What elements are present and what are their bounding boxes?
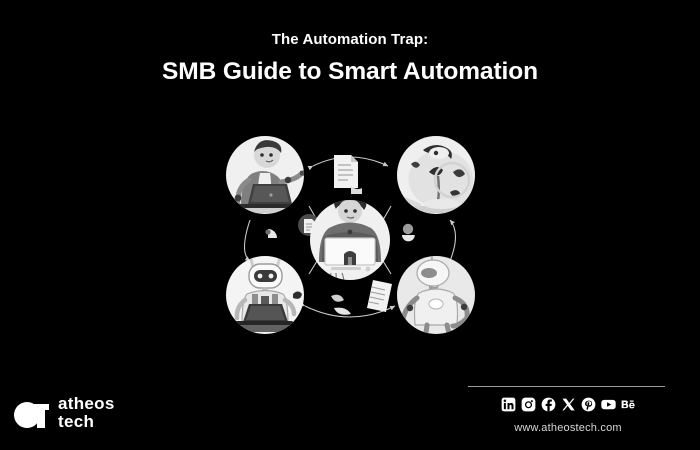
atheos-at-monogram-icon [12,396,52,430]
title-block: The Automation Trap: SMB Guide to Smart … [0,30,700,87]
node-bottom-left [219,246,313,334]
node-bottom-right [397,243,475,337]
automation-illustration [205,128,495,344]
node-center [305,192,395,285]
youtube-icon[interactable] [601,397,616,412]
linkedin-icon[interactable] [501,397,516,412]
node-top-right [394,136,480,214]
website-url[interactable]: www.atheostech.com [468,421,668,435]
footer-right: www.atheostech.com [468,386,668,435]
document-icon-top [334,155,362,194]
footer-divider [468,386,665,387]
eyebrow-text: The Automation Trap: [0,30,700,50]
brand-line-2: tech [58,413,115,431]
facebook-icon[interactable] [541,397,556,412]
node-top-left [223,136,311,214]
brand-logo: atheos tech [12,390,147,436]
page-title: SMB Guide to Smart Automation [0,56,700,87]
document-icon-bottom-right [367,280,392,312]
x-icon[interactable] [561,397,576,412]
brand-line-1: atheos [58,395,115,413]
behance-icon[interactable] [621,397,636,412]
pinterest-icon[interactable] [581,397,596,412]
social-links [468,395,668,413]
brand-wordmark: atheos tech [58,395,115,431]
slide-canvas: The Automation Trap: SMB Guide to Smart … [0,0,700,450]
instagram-icon[interactable] [521,397,536,412]
